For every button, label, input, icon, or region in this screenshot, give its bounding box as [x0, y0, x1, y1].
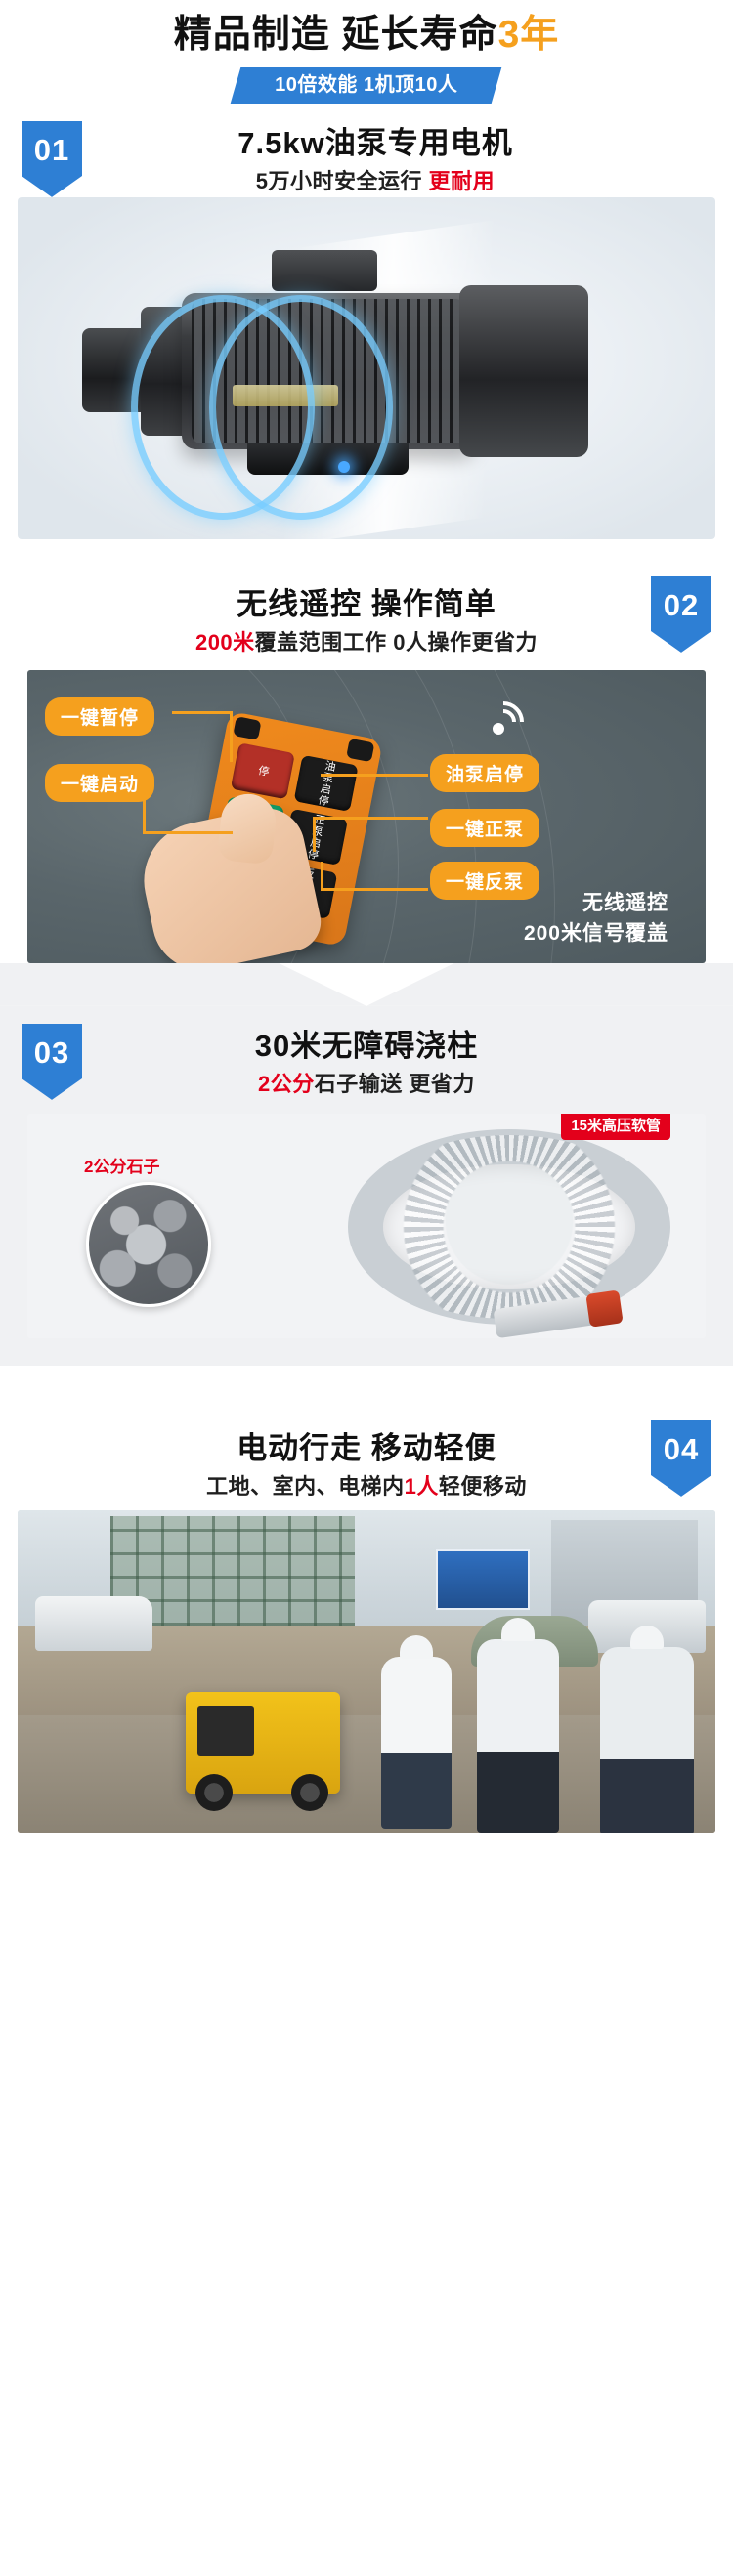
worker-1	[381, 1657, 452, 1829]
callout-start: 一键启动	[45, 764, 154, 802]
section-01-image	[18, 197, 715, 539]
section-02-subtitle: 200米覆盖范围工作 0人操作更省力	[195, 628, 538, 658]
callout-leader-line	[321, 774, 428, 777]
section-02: 02 无线遥控 操作简单 200米覆盖范围工作 0人操作更省力 停 油泵启停 动…	[0, 565, 733, 963]
section-03: 03 30米无障碍浇柱 2公分石子输送 更省力 15米高压软管 2公分石子	[0, 1006, 733, 1366]
remote-screw-right	[346, 739, 374, 763]
wifi-signal-icon	[491, 696, 541, 735]
callout-leader-line	[172, 711, 233, 762]
section-01-title: 7.5kw油泵专用电机	[237, 125, 512, 163]
machine-control-panel	[197, 1706, 254, 1756]
machine-wheel	[195, 1774, 233, 1811]
section-divider-arrow	[0, 1366, 733, 1409]
callout-pause: 一键暂停	[45, 697, 154, 736]
page-title-main: 精品制造 延长寿命	[174, 14, 498, 56]
section-01-subtitle: 5万小时安全运行 更耐用	[237, 167, 512, 197]
spacer	[0, 1338, 733, 1366]
site-signboard	[436, 1549, 530, 1610]
section-01: 01 7.5kw油泵专用电机 5万小时安全运行 更耐用	[0, 104, 733, 539]
section-02-head: 02 无线遥控 操作简单 200米覆盖范围工作 0人操作更省力	[0, 565, 733, 670]
spacer	[0, 539, 733, 565]
page-title: 精品制造 延长寿命3年	[0, 14, 733, 58]
remote-key-stop[interactable]: 停	[231, 742, 295, 799]
tag-stone-size: 2公分石子	[84, 1153, 159, 1177]
section-04-sub-red: 1人	[405, 1474, 439, 1499]
section-03-title: 30米无障碍浇柱	[255, 1028, 478, 1066]
section-02-title: 无线遥控 操作简单	[195, 586, 538, 624]
section-04-sub-plain-b: 轻便移动	[439, 1474, 527, 1499]
section-02-titles: 无线遥控 操作简单 200米覆盖范围工作 0人操作更省力	[195, 586, 538, 658]
section-03-sub-plain: 石子输送 更省力	[315, 1072, 475, 1096]
section-04-title: 电动行走 移动轻便	[206, 1430, 527, 1468]
section-01-sub-red: 更耐用	[429, 169, 496, 193]
tag-hose-length: 15米高压软管	[561, 1114, 670, 1140]
header-ribbon-label: 10倍效能 1机顶10人	[276, 74, 458, 96]
callout-leader-line	[321, 862, 428, 891]
section-01-sub-plain: 5万小时安全运行	[256, 169, 429, 193]
section-01-head: 01 7.5kw油泵专用电机 5万小时安全运行 更耐用	[0, 104, 733, 197]
callout-pump-toggle: 油泵启停	[430, 754, 539, 792]
worker-3	[600, 1647, 694, 1833]
motor-fan-cover	[459, 285, 588, 457]
remote-screw-left	[233, 716, 261, 740]
hose-coil-texture	[354, 1135, 665, 1319]
section-divider-arrow	[0, 963, 733, 1006]
corner-line-1: 无线遥控	[524, 888, 668, 919]
section-03-head: 03 30米无障碍浇柱 2公分石子输送 更省力	[0, 1006, 733, 1114]
section-02-corner-text: 无线遥控 200米信号覆盖	[524, 888, 668, 950]
header-ribbon-wrap: 10倍效能 1机顶10人	[0, 67, 733, 104]
section-02-badge: 02	[651, 576, 711, 653]
header-ribbon: 10倍效能 1机顶10人	[231, 67, 502, 104]
section-01-badge: 01	[22, 121, 82, 197]
high-pressure-hose	[348, 1129, 670, 1325]
motor-junction-box	[272, 250, 377, 291]
section-02-image: 停 油泵启停 动 正泵启停 备用 反泵启停 一键暂停 一键启动 油泵启停 一键正…	[27, 670, 706, 963]
callout-leader-line	[313, 817, 428, 852]
section-04-sub-plain-a: 工地、室内、电梯内	[206, 1474, 405, 1499]
page-header: 精品制造 延长寿命3年 10倍效能 1机顶10人	[0, 0, 733, 104]
section-03-subtitle: 2公分石子输送 更省力	[255, 1070, 478, 1100]
remote-key-pump-toggle[interactable]: 油泵启停	[294, 755, 359, 812]
glow-ring-icon	[209, 295, 393, 520]
section-02-sub-red: 200米	[195, 630, 255, 655]
section-04-image	[18, 1510, 715, 1833]
section-04-titles: 电动行走 移动轻便 工地、室内、电梯内1人轻便移动	[206, 1430, 527, 1502]
section-04: 04 电动行走 移动轻便 工地、室内、电梯内1人轻便移动	[0, 1409, 733, 1833]
section-03-sub-red: 2公分	[258, 1072, 315, 1096]
section-03-titles: 30米无障碍浇柱 2公分石子输送 更省力	[255, 1028, 478, 1100]
section-01-titles: 7.5kw油泵专用电机 5万小时安全运行 更耐用	[237, 125, 512, 197]
section-03-badge: 03	[22, 1024, 82, 1100]
section-03-image: 15米高压软管 2公分石子	[27, 1114, 706, 1338]
worker-2	[477, 1639, 559, 1833]
section-04-badge: 04	[651, 1420, 711, 1497]
section-04-head: 04 电动行走 移动轻便 工地、室内、电梯内1人轻便移动	[0, 1409, 733, 1510]
machine-wheel	[291, 1774, 328, 1811]
section-02-sub-plain: 覆盖范围工作 0人操作更省力	[255, 630, 538, 655]
callout-forward-pump: 一键正泵	[430, 809, 539, 847]
callout-leader-line	[143, 795, 233, 834]
section-04-subtitle: 工地、室内、电梯内1人轻便移动	[206, 1472, 527, 1502]
corner-line-2: 200米信号覆盖	[524, 918, 668, 950]
page-title-highlight: 3年	[498, 14, 560, 56]
mortar-pump-machine	[186, 1692, 340, 1794]
gravel-photo	[86, 1182, 211, 1307]
white-van-left	[35, 1596, 152, 1651]
